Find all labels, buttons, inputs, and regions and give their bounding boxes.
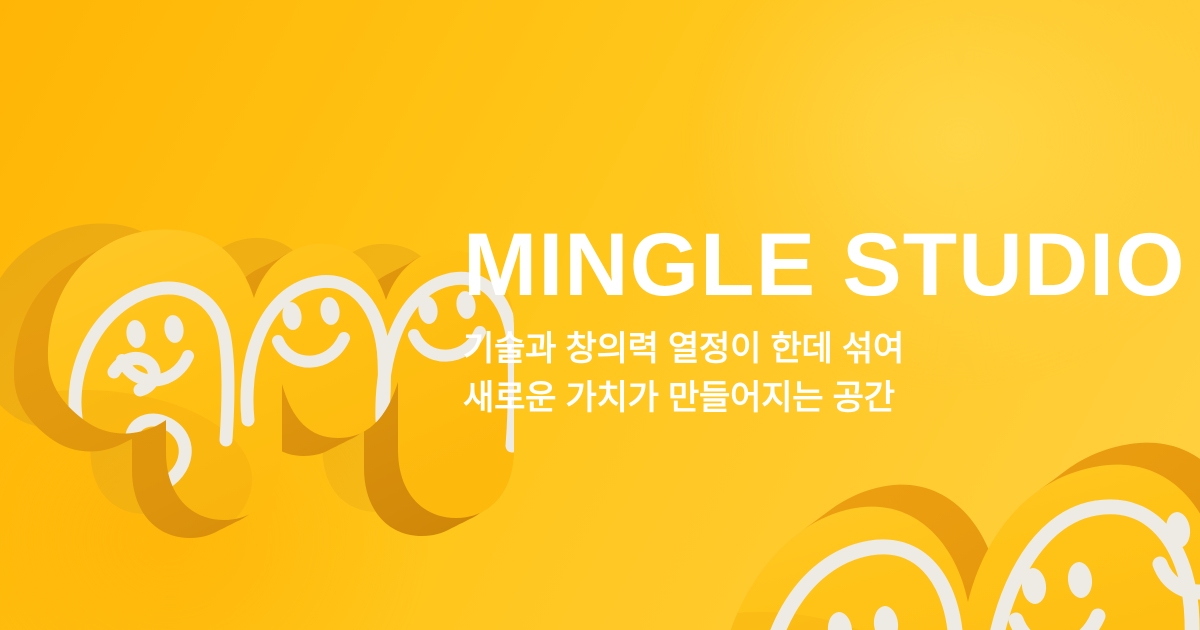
subtitle-line-2: 새로운 가치가 만들어지는 공간 bbox=[463, 374, 1193, 424]
page-title: MINGLE STUDIO bbox=[463, 222, 1193, 307]
subtitle-block: 기술과 창의력 열정이 한데 섞여 새로운 가치가 만들어지는 공간 bbox=[463, 307, 1193, 424]
poster-canvas: MINGLE STUDIO 기술과 창의력 열정이 한데 섞여 새로운 가치가 … bbox=[0, 0, 1200, 630]
copy-block: MINGLE STUDIO 기술과 창의력 열정이 한데 섞여 새로운 가치가 … bbox=[463, 222, 1193, 424]
subtitle-line-1: 기술과 창의력 열정이 한데 섞여 bbox=[463, 325, 1193, 375]
mingle-m-smiley-logo-left bbox=[0, 120, 472, 550]
mingle-m-smiley-logo-bottom-right bbox=[700, 392, 1200, 630]
